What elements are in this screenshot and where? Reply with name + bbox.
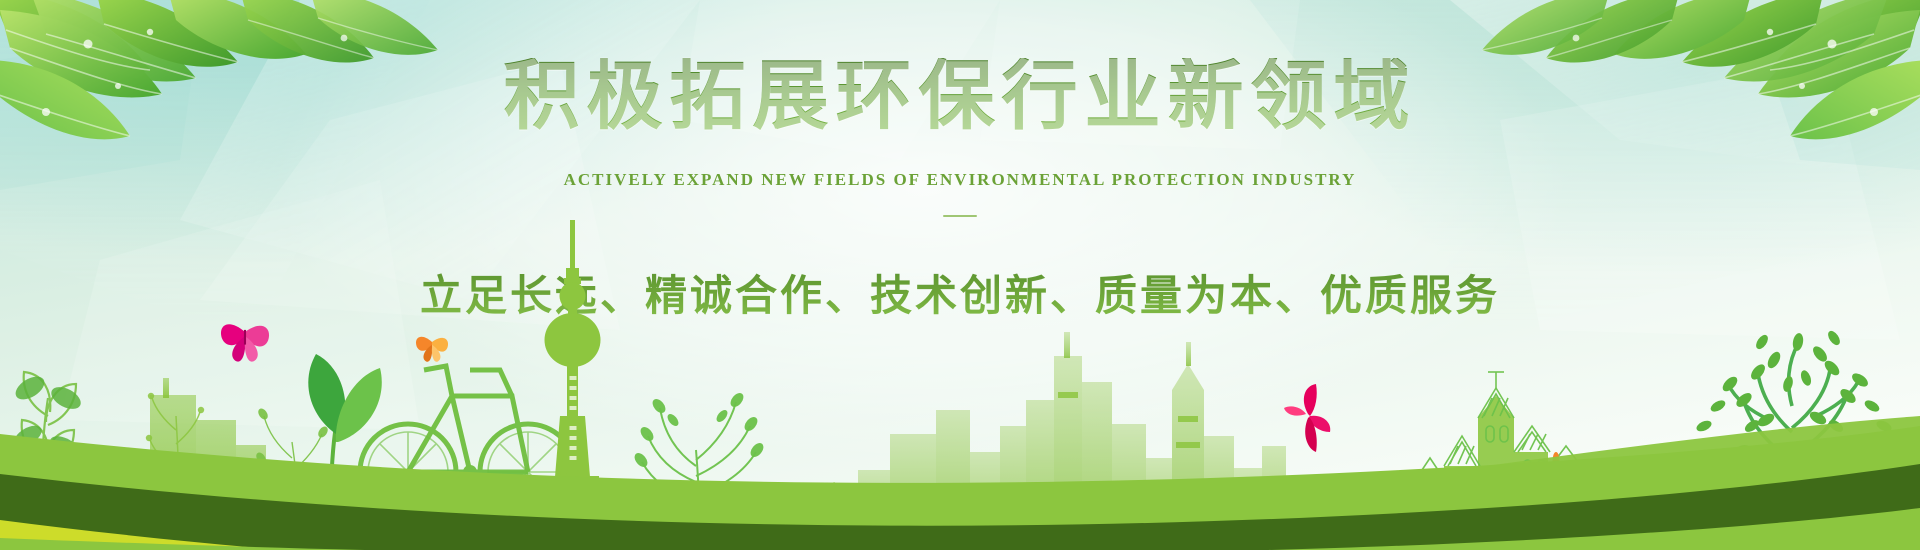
butterfly-icon [416,337,448,362]
page-title: 积极拓展环保行业新领域 [0,58,1920,138]
scenery-illustration [0,220,1920,550]
hummingbird-icon [1284,384,1330,452]
divider-rule [943,215,977,217]
subtitle-english: ACTIVELY EXPAND NEW FIELDS OF ENVIRONMEN… [0,170,1920,190]
butterfly-icon [221,324,269,361]
environmental-banner: 积极拓展环保行业新领域 ACTIVELY EXPAND NEW FIELDS O… [0,0,1920,550]
